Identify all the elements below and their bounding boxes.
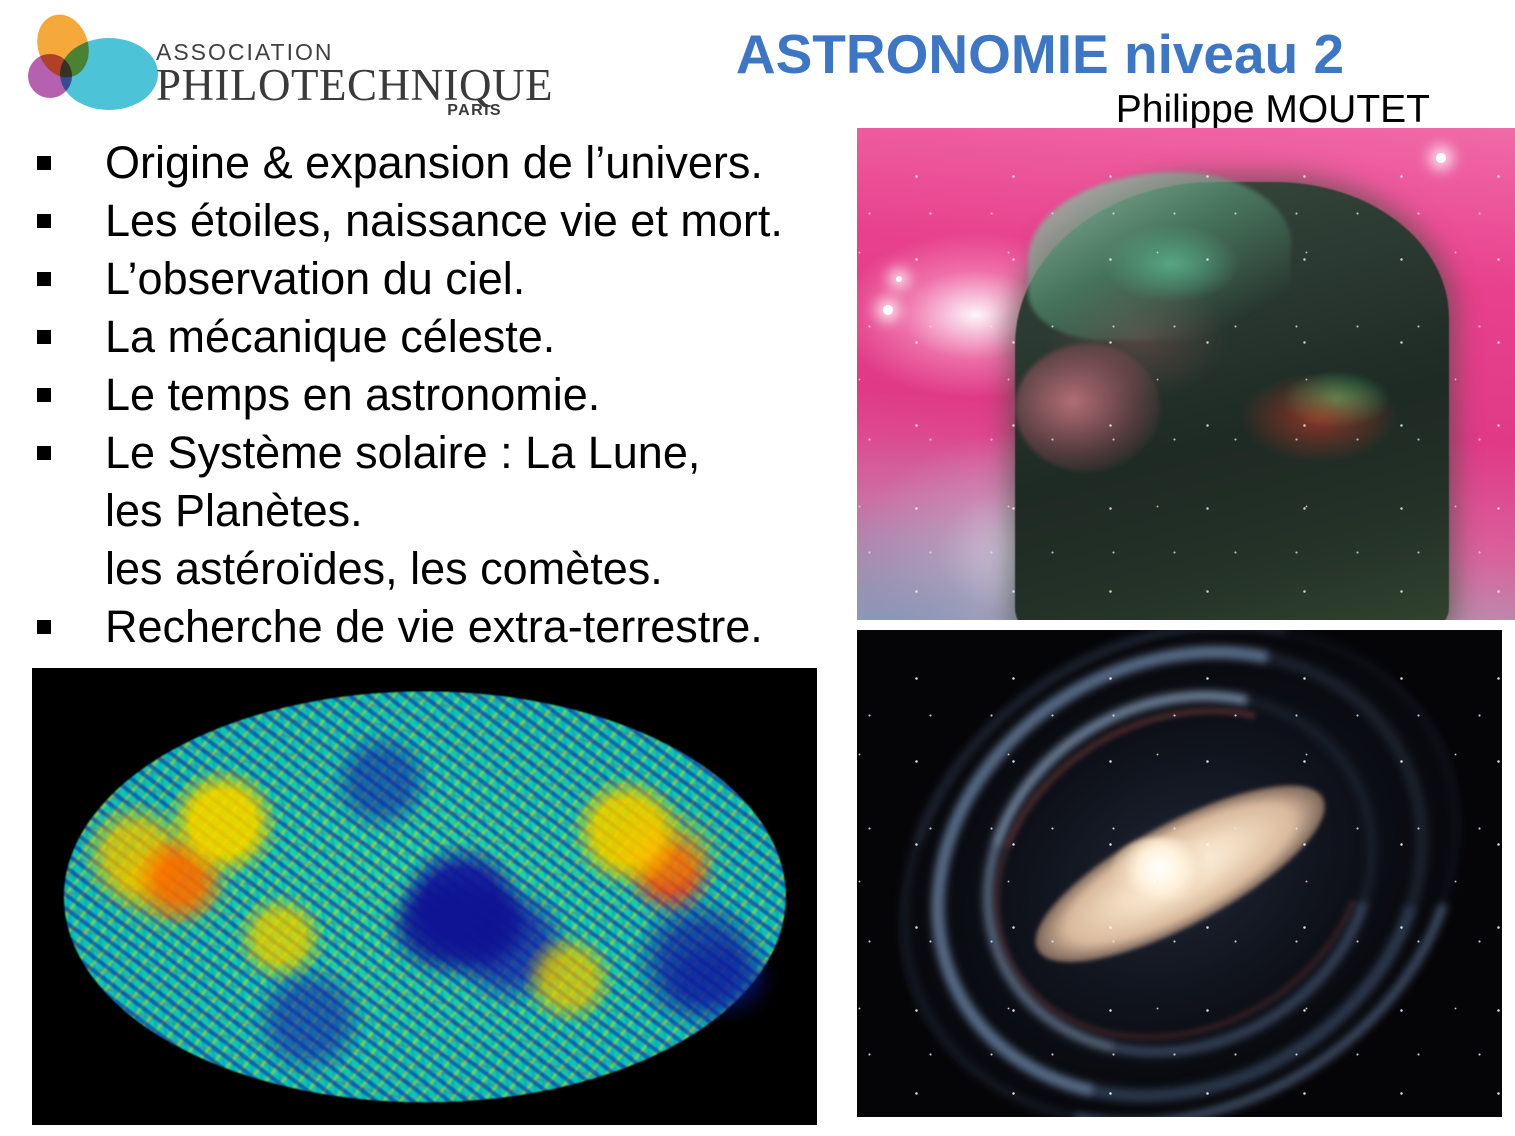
bullet-square-icon: [37, 388, 51, 402]
logo-wordmark: ASSOCIATION PHILOTECHNIQUE PARIS: [156, 40, 504, 120]
logo-purple-circle-icon: [28, 54, 72, 98]
list-item-label: La mécanique céleste.: [105, 308, 555, 366]
list-item: La mécanique céleste.: [22, 308, 872, 366]
bullet-square-icon: [37, 620, 51, 634]
list-item-label: Le temps en astronomie.: [105, 366, 600, 424]
nebula-starfield: [857, 128, 1515, 620]
cmb-cold-spot: [396, 880, 526, 970]
bullet-square-icon: [37, 446, 51, 460]
cmb-cold-spot: [670, 946, 764, 1012]
list-item-label: Le Système solaire : La Lune,: [105, 424, 700, 482]
list-item-continuation: les astéroïdes, les comètes.: [22, 540, 872, 598]
bullet-square-icon: [37, 214, 51, 228]
galaxy-starfield: [857, 630, 1502, 1117]
cmb-sky-ellipse: [63, 691, 785, 1102]
list-item-label: les astéroïdes, les comètes.: [105, 540, 663, 598]
list-item-label: les Planètes.: [105, 482, 363, 540]
list-item: Origine & expansion de l’univers.: [22, 134, 872, 192]
bullet-square-icon: [37, 330, 51, 344]
list-item-continuation: les Planètes.: [22, 482, 872, 540]
list-item-label: Les étoiles, naissance vie et mort.: [105, 192, 783, 250]
cmb-hot-spot: [612, 814, 713, 888]
author-name: Philippe MOUTET: [600, 88, 1430, 132]
list-item: L’observation du ciel.: [22, 250, 872, 308]
spiral-galaxy-image: [857, 630, 1502, 1117]
list-item-label: Origine & expansion de l’univers.: [105, 134, 763, 192]
bullet-square-icon: [37, 156, 51, 170]
page-title: ASTRONOMIE niveau 2: [600, 22, 1480, 86]
cmb-hot-spot: [121, 847, 222, 921]
list-item-label: L’observation du ciel.: [105, 250, 525, 308]
bullet-square-icon: [37, 272, 51, 286]
list-item: Le temps en astronomie.: [22, 366, 872, 424]
list-item: Les étoiles, naissance vie et mort.: [22, 192, 872, 250]
nebula-bright-star: [1436, 153, 1446, 163]
list-item: Le Système solaire : La Lune,: [22, 424, 872, 482]
logo-mark-icon: [14, 10, 154, 120]
horsehead-nebula-image: [857, 128, 1515, 620]
cmb-allsky-map-image: [32, 668, 817, 1125]
topics-list: Origine & expansion de l’univers. Les ét…: [22, 134, 872, 656]
list-item: Recherche de vie extra-terrestre.: [22, 598, 872, 656]
presentation-slide: ASSOCIATION PHILOTECHNIQUE PARIS ASTRONO…: [0, 0, 1515, 1136]
list-item-label: Recherche de vie extra-terrestre.: [105, 598, 763, 656]
philotechnique-logo: ASSOCIATION PHILOTECHNIQUE PARIS: [14, 10, 504, 122]
